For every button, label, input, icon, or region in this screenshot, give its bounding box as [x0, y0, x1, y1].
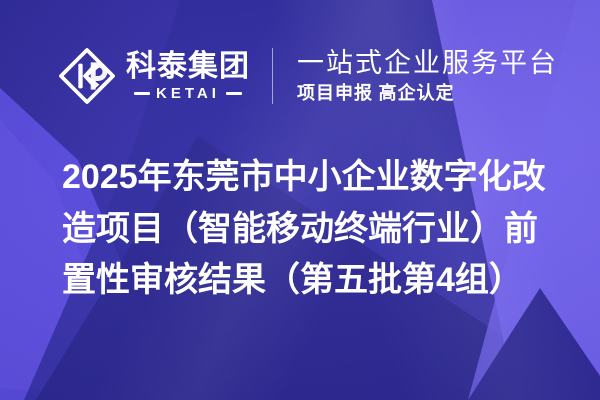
banner-header: 科泰集团 KETAI 一站式企业服务平台 项目申报 高企认定 — [56, 40, 558, 112]
ketai-diamond-monogram-icon — [56, 45, 118, 107]
logo-wordmark: 科泰集团 KETAI — [126, 51, 250, 101]
logo-dash-right — [226, 92, 242, 95]
tagline-block: 一站式企业服务平台 项目申报 高企认定 — [297, 48, 558, 105]
promotional-banner: 科泰集团 KETAI 一站式企业服务平台 项目申报 高企认定 2025年东莞市中… — [0, 0, 600, 400]
logo-company-en: KETAI — [156, 86, 220, 101]
logo-en-row: KETAI — [134, 86, 242, 101]
logo-dash-left — [134, 92, 150, 95]
page-title: 2025年东莞市中小企业数字化改造项目（智能移动终端行业）前置性审核结果（第五批… — [62, 152, 562, 307]
logo-company-cn: 科泰集团 — [126, 51, 250, 83]
tagline-sub: 项目申报 高企认定 — [297, 82, 558, 105]
tagline-main: 一站式企业服务平台 — [297, 48, 558, 78]
header-vertical-divider — [272, 48, 273, 104]
